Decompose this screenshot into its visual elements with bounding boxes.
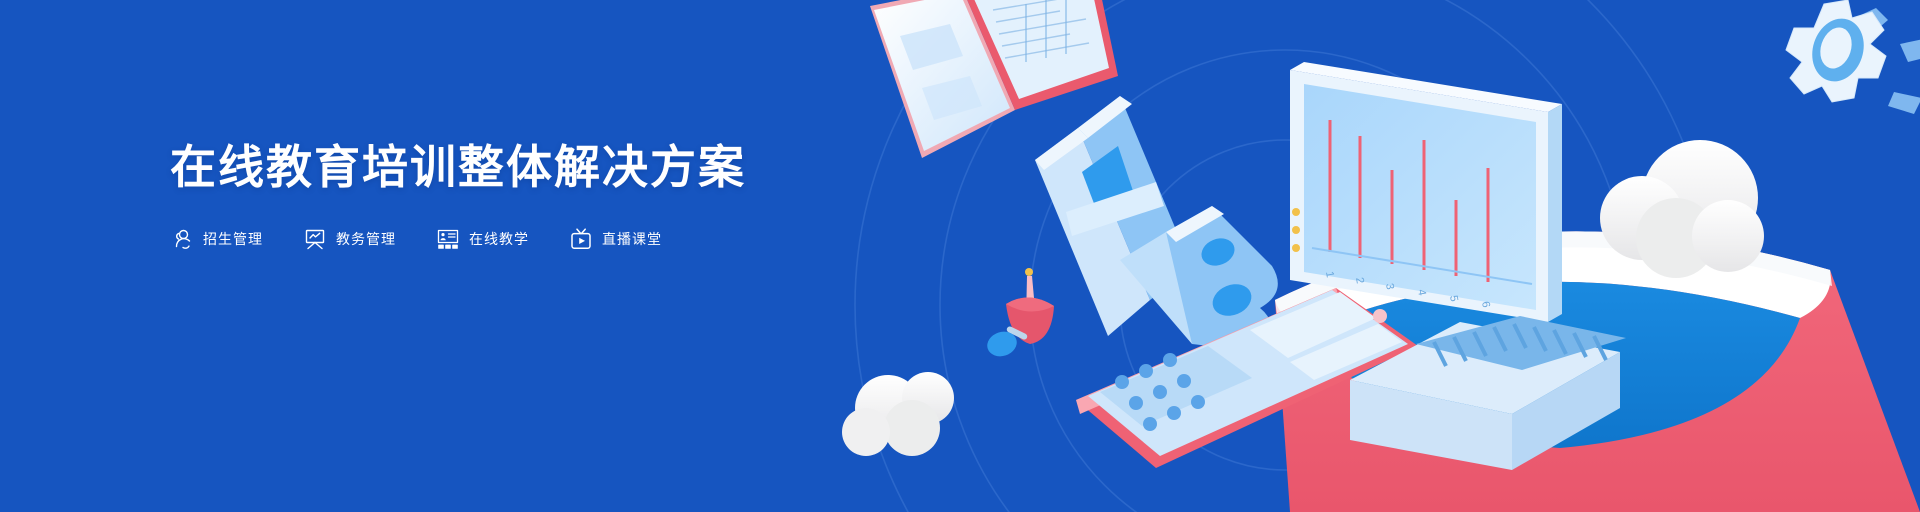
chart-easel-icon xyxy=(303,227,327,251)
users-icon xyxy=(170,227,194,251)
browser-chart-window: 1 2 3 4 5 6 xyxy=(1290,62,1562,322)
cloud-small-shape xyxy=(842,372,954,456)
feature-item-academic-affairs[interactable]: 教务管理 xyxy=(303,226,396,252)
feature-item-live-classroom[interactable]: 直播课堂 xyxy=(569,226,662,252)
feature-label: 招生管理 xyxy=(203,229,263,249)
education-illustration: 1 2 3 4 5 6 xyxy=(820,0,1920,512)
feature-label: 直播课堂 xyxy=(602,229,662,249)
tv-play-icon xyxy=(569,227,593,251)
feature-label: 在线教学 xyxy=(469,229,529,249)
gear-3d-shape xyxy=(1786,0,1920,114)
feature-label: 教务管理 xyxy=(336,229,396,249)
education-hero-banner: 1 2 3 4 5 6 xyxy=(0,0,1920,512)
hero-copy: 在线教育培训整体解决方案 招生管理 教务管理 xyxy=(170,140,746,252)
spinning-top-shape xyxy=(984,268,1054,360)
feature-list: 招生管理 教务管理 xyxy=(170,226,746,252)
feature-item-online-teaching[interactable]: 在线教学 xyxy=(436,226,529,252)
classroom-icon xyxy=(436,227,460,251)
page-title: 在线教育培训整体解决方案 xyxy=(170,140,746,194)
feature-item-enrollment[interactable]: 招生管理 xyxy=(170,226,263,252)
